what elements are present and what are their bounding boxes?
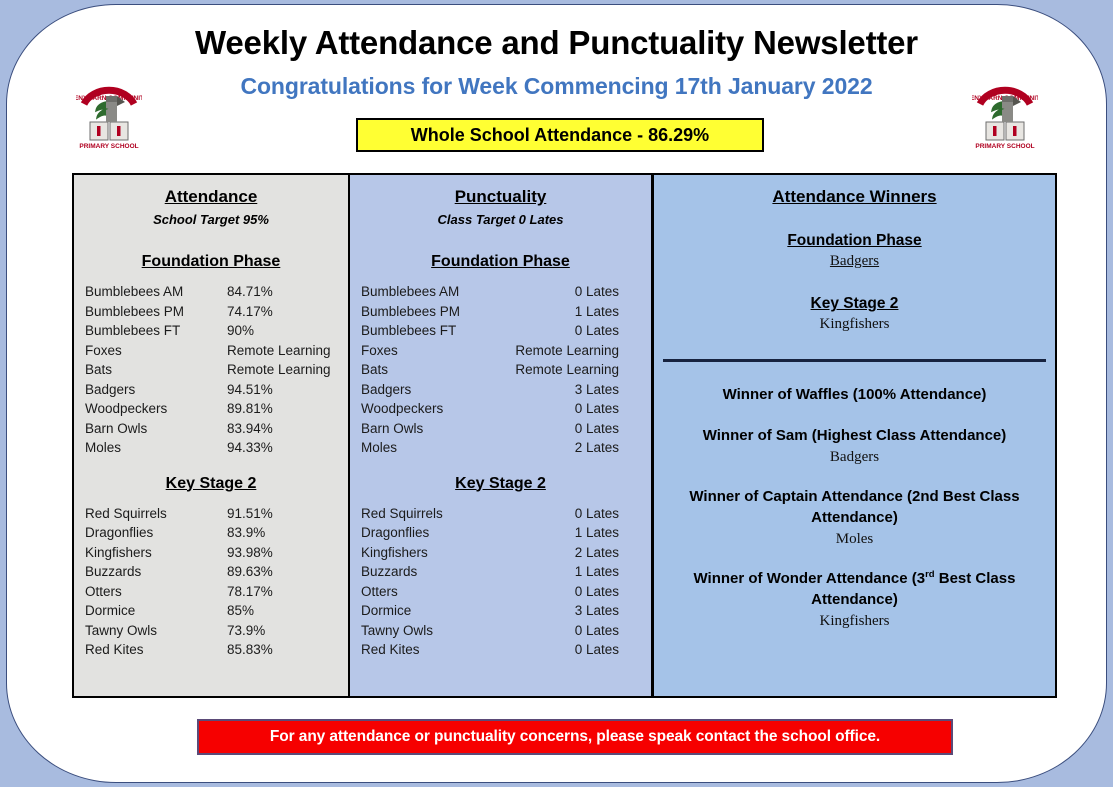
row-value: 89.81%	[227, 399, 340, 419]
award-block: Winner of Wonder Attendance (3rd Best Cl…	[654, 568, 1055, 630]
row-value: 94.51%	[227, 380, 340, 400]
winners-awards-list: Winner of Waffles (100% Attendance)Winne…	[654, 384, 1055, 630]
whole-school-attendance-banner: Whole School Attendance - 86.29%	[356, 118, 764, 152]
row-value: 94.33%	[227, 438, 340, 458]
row-value: 0 Lates	[511, 399, 619, 419]
row-class-name: Otters	[361, 582, 511, 602]
award-title: Winner of Waffles (100% Attendance)	[654, 384, 1055, 405]
row-class-name: Bats	[85, 360, 227, 380]
row-value: 2 Lates	[511, 438, 619, 458]
punctuality-subtitle: Class Target 0 Lates	[350, 212, 651, 227]
row-class-name: Buzzards	[85, 562, 227, 582]
table-row: Tawny Owls73.9%	[85, 621, 340, 641]
row-value: Remote Learning	[511, 341, 619, 361]
row-class-name: Moles	[361, 438, 511, 458]
row-class-name: Kingfishers	[361, 543, 511, 563]
row-value: 0 Lates	[511, 419, 619, 439]
punctuality-ks2-heading: Key Stage 2	[350, 475, 651, 493]
row-class-name: Dormice	[85, 601, 227, 621]
table-row: Buzzards1 Lates	[361, 562, 619, 582]
svg-text:PRIMARY SCHOOL: PRIMARY SCHOOL	[79, 143, 138, 150]
row-class-name: Foxes	[361, 341, 511, 361]
row-value: 93.98%	[227, 543, 340, 563]
award-winner: Moles	[654, 531, 1055, 548]
row-class-name: Red Kites	[361, 640, 511, 660]
row-value: 0 Lates	[511, 321, 619, 341]
table-row: BatsRemote Learning	[361, 360, 619, 380]
punctuality-panel: Punctuality Class Target 0 Lates Foundat…	[350, 175, 654, 696]
table-row: FoxesRemote Learning	[85, 341, 340, 361]
row-class-name: Red Squirrels	[85, 504, 227, 524]
contact-notice-text: For any attendance or punctuality concer…	[270, 728, 880, 746]
table-row: Buzzards89.63%	[85, 562, 340, 582]
row-value: 91.51%	[227, 504, 340, 524]
table-row: Red Kites0 Lates	[361, 640, 619, 660]
row-value: 84.71%	[227, 282, 340, 302]
whole-school-attendance-text: Whole School Attendance - 86.29%	[411, 125, 709, 146]
newsletter-header: Weekly Attendance and Punctuality Newsle…	[0, 0, 1113, 165]
award-ordinal-suffix: rd	[925, 569, 935, 580]
table-row: Dragonflies1 Lates	[361, 523, 619, 543]
table-row: Kingfishers2 Lates	[361, 543, 619, 563]
row-value: 78.17%	[227, 582, 340, 602]
punctuality-foundation-heading: Foundation Phase	[350, 253, 651, 271]
table-row: Tawny Owls0 Lates	[361, 621, 619, 641]
table-row: Red Squirrels91.51%	[85, 504, 340, 524]
table-row: Woodpeckers89.81%	[85, 399, 340, 419]
table-row: Badgers3 Lates	[361, 380, 619, 400]
row-value: 3 Lates	[511, 601, 619, 621]
row-class-name: Foxes	[85, 341, 227, 361]
row-value: Remote Learning	[227, 360, 340, 380]
page-subtitle: Congratulations for Week Commencing 17th…	[0, 73, 1113, 100]
row-class-name: Buzzards	[361, 562, 511, 582]
table-row: Dormice85%	[85, 601, 340, 621]
winners-ks2-heading: Key Stage 2	[654, 295, 1055, 313]
row-value: 85%	[227, 601, 340, 621]
row-class-name: Barn Owls	[85, 419, 227, 439]
table-row: Otters0 Lates	[361, 582, 619, 602]
row-class-name: Otters	[85, 582, 227, 602]
row-class-name: Tawny Owls	[361, 621, 511, 641]
award-block: Winner of Captain Attendance (2nd Best C…	[654, 486, 1055, 548]
row-value: 0 Lates	[511, 504, 619, 524]
row-class-name: Bumblebees AM	[85, 282, 227, 302]
svg-text:PRIMARY SCHOOL: PRIMARY SCHOOL	[975, 143, 1034, 150]
page-title: Weekly Attendance and Punctuality Newsle…	[0, 24, 1113, 62]
row-class-name: Kingfishers	[85, 543, 227, 563]
row-value: 0 Lates	[511, 582, 619, 602]
table-row: Otters78.17%	[85, 582, 340, 602]
row-class-name: Woodpeckers	[85, 399, 227, 419]
row-value: 74.17%	[227, 302, 340, 322]
row-class-name: Woodpeckers	[361, 399, 511, 419]
award-title: Winner of Sam (Highest Class Attendance)	[654, 425, 1055, 446]
winners-divider	[663, 359, 1046, 362]
row-value: 3 Lates	[511, 380, 619, 400]
attendance-foundation-heading: Foundation Phase	[74, 253, 348, 271]
newsletter-page: Weekly Attendance and Punctuality Newsle…	[0, 0, 1113, 787]
row-class-name: Bats	[361, 360, 511, 380]
row-class-name: Tawny Owls	[85, 621, 227, 641]
row-value: 1 Lates	[511, 562, 619, 582]
row-class-name: Badgers	[85, 380, 227, 400]
table-row: Barn Owls0 Lates	[361, 419, 619, 439]
row-value: 0 Lates	[511, 640, 619, 660]
award-block: Winner of Waffles (100% Attendance)	[654, 384, 1055, 405]
school-logo-icon: PENYGARN COMMUNITY PRIMARY SCHOOL	[972, 78, 1038, 150]
attendance-panel: Attendance School Target 95% Foundation …	[74, 175, 350, 696]
winners-ks2-winner: Kingfishers	[654, 316, 1055, 333]
row-value: 85.83%	[227, 640, 340, 660]
winners-foundation-winner: Badgers	[654, 253, 1055, 270]
attendance-ks2-heading: Key Stage 2	[74, 475, 348, 493]
table-row: Bumblebees PM74.17%	[85, 302, 340, 322]
row-class-name: Dormice	[361, 601, 511, 621]
attendance-subtitle: School Target 95%	[74, 212, 348, 227]
table-row: Dragonflies83.9%	[85, 523, 340, 543]
table-row: Bumblebees AM0 Lates	[361, 282, 619, 302]
award-winner: Badgers	[654, 449, 1055, 466]
row-value: 73.9%	[227, 621, 340, 641]
row-value: 83.94%	[227, 419, 340, 439]
row-class-name: Barn Owls	[361, 419, 511, 439]
table-row: BatsRemote Learning	[85, 360, 340, 380]
table-row: Moles2 Lates	[361, 438, 619, 458]
row-class-name: Bumblebees FT	[85, 321, 227, 341]
row-class-name: Bumblebees PM	[361, 302, 511, 322]
table-row: Bumblebees AM84.71%	[85, 282, 340, 302]
table-row: FoxesRemote Learning	[361, 341, 619, 361]
attendance-ks2-rows: Red Squirrels91.51%Dragonflies83.9%Kingf…	[74, 504, 348, 660]
winners-title: Attendance Winners	[654, 187, 1055, 207]
punctuality-ks2-rows: Red Squirrels0 LatesDragonflies1 LatesKi…	[350, 504, 651, 660]
newsletter-panels: Attendance School Target 95% Foundation …	[72, 173, 1057, 698]
row-value: 0 Lates	[511, 621, 619, 641]
attendance-winners-panel: Attendance Winners Foundation Phase Badg…	[654, 175, 1055, 696]
row-class-name: Dragonflies	[361, 523, 511, 543]
table-row: Kingfishers93.98%	[85, 543, 340, 563]
row-class-name: Red Kites	[85, 640, 227, 660]
contact-notice-bar: For any attendance or punctuality concer…	[197, 719, 953, 755]
row-value: Remote Learning	[511, 360, 619, 380]
row-value: 90%	[227, 321, 340, 341]
award-title: Winner of Wonder Attendance (3rd Best Cl…	[654, 568, 1055, 610]
row-value: 1 Lates	[511, 523, 619, 543]
award-block: Winner of Sam (Highest Class Attendance)…	[654, 425, 1055, 466]
table-row: Barn Owls83.94%	[85, 419, 340, 439]
attendance-foundation-rows: Bumblebees AM84.71%Bumblebees PM74.17%Bu…	[74, 282, 348, 458]
row-class-name: Bumblebees PM	[85, 302, 227, 322]
row-value: 2 Lates	[511, 543, 619, 563]
award-winner: Kingfishers	[654, 613, 1055, 630]
punctuality-title: Punctuality	[350, 187, 651, 207]
row-class-name: Red Squirrels	[361, 504, 511, 524]
row-class-name: Dragonflies	[85, 523, 227, 543]
row-class-name: Bumblebees AM	[361, 282, 511, 302]
row-value: 89.63%	[227, 562, 340, 582]
table-row: Dormice3 Lates	[361, 601, 619, 621]
row-value: 1 Lates	[511, 302, 619, 322]
punctuality-foundation-rows: Bumblebees AM0 LatesBumblebees PM1 Lates…	[350, 282, 651, 458]
table-row: Badgers94.51%	[85, 380, 340, 400]
table-row: Bumblebees FT0 Lates	[361, 321, 619, 341]
table-row: Red Squirrels0 Lates	[361, 504, 619, 524]
table-row: Red Kites85.83%	[85, 640, 340, 660]
row-value: 83.9%	[227, 523, 340, 543]
school-logo-icon: PENYGARN COMMUNITY PRIMARY SCHOOL	[76, 78, 142, 150]
attendance-title: Attendance	[74, 187, 348, 207]
winners-foundation-heading: Foundation Phase	[654, 232, 1055, 250]
table-row: Bumblebees FT90%	[85, 321, 340, 341]
row-value: Remote Learning	[227, 341, 340, 361]
row-class-name: Moles	[85, 438, 227, 458]
table-row: Woodpeckers0 Lates	[361, 399, 619, 419]
row-class-name: Bumblebees FT	[361, 321, 511, 341]
row-value: 0 Lates	[511, 282, 619, 302]
table-row: Bumblebees PM1 Lates	[361, 302, 619, 322]
table-row: Moles94.33%	[85, 438, 340, 458]
award-title: Winner of Captain Attendance (2nd Best C…	[654, 486, 1055, 528]
row-class-name: Badgers	[361, 380, 511, 400]
